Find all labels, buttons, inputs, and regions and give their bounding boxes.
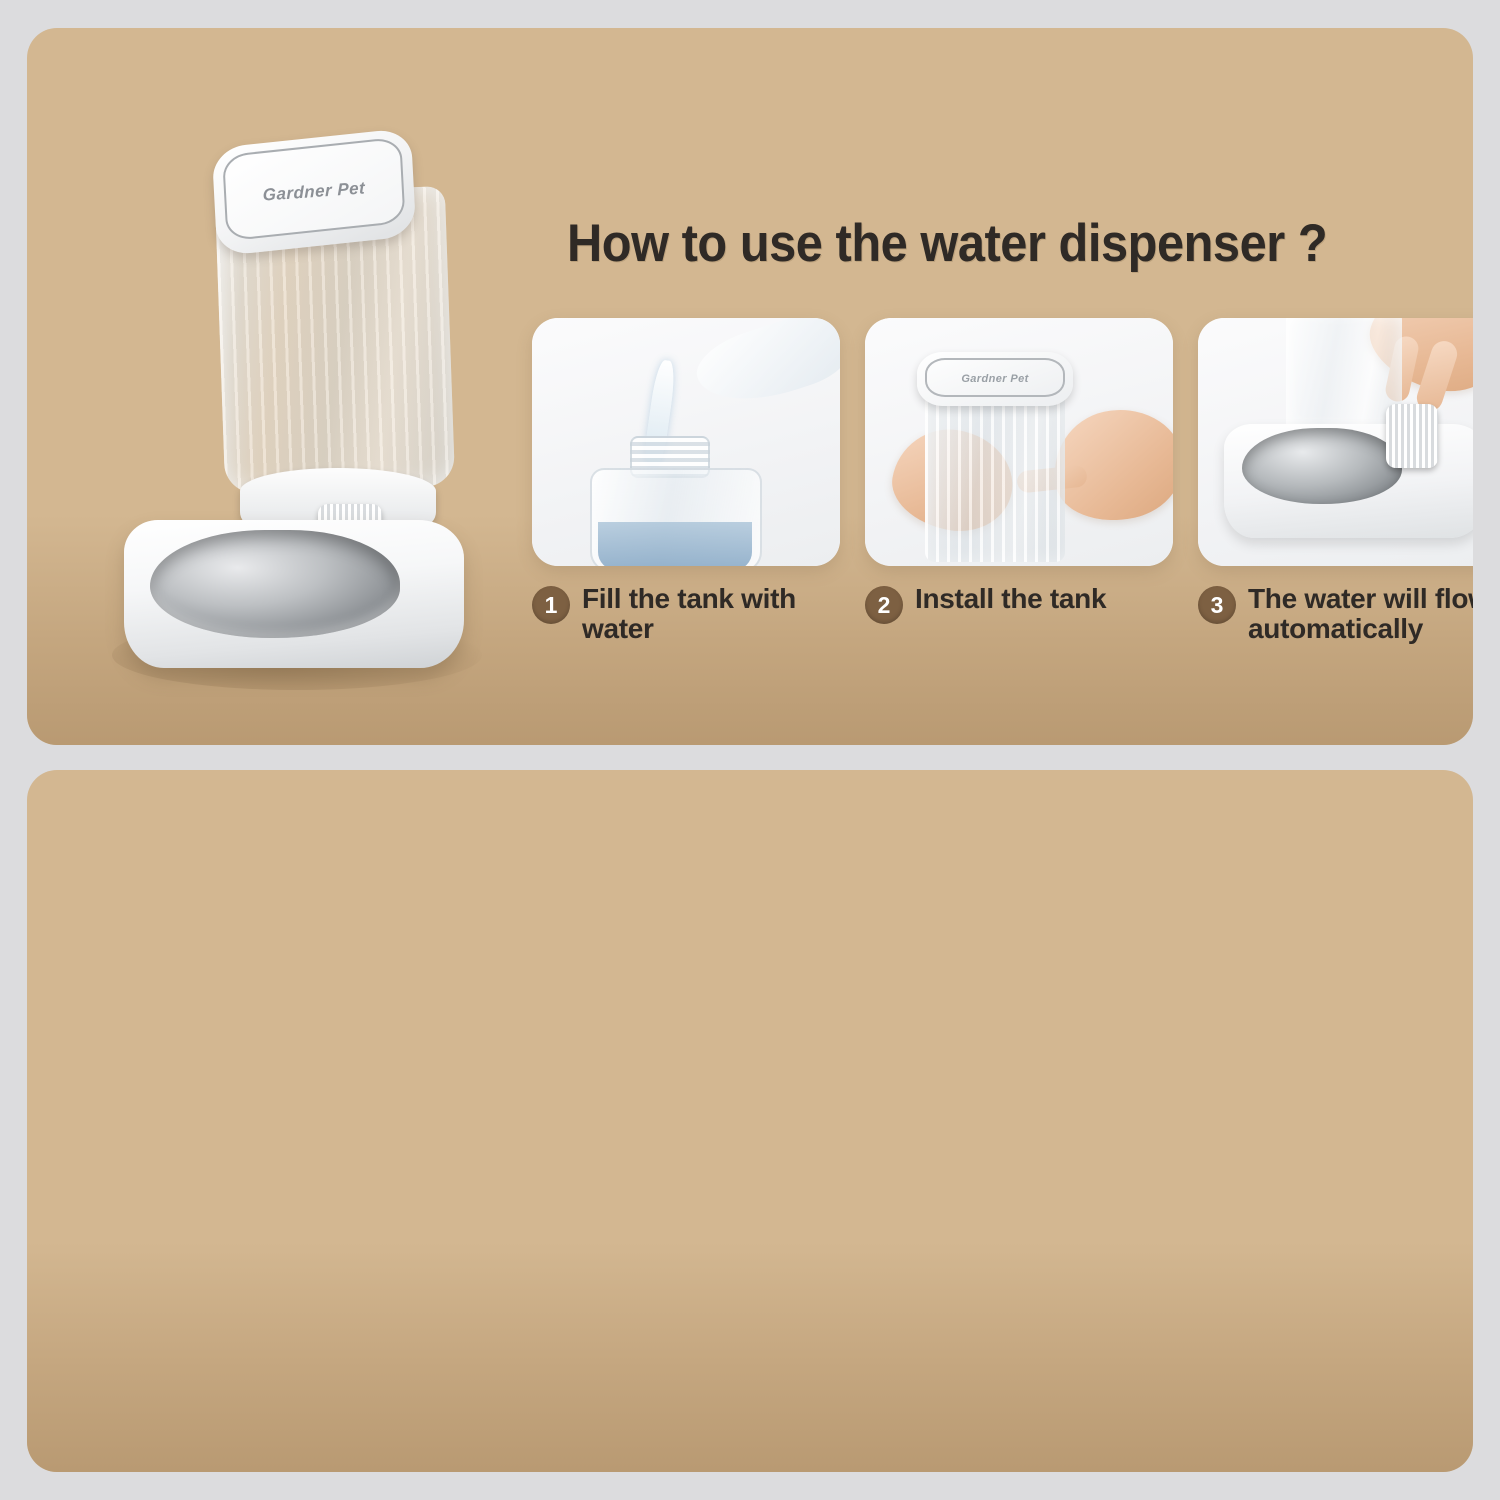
tank-ribs	[925, 386, 1065, 562]
step-thumbnail-install-tank[interactable]: Gardner Pet	[865, 318, 1173, 566]
step-thumbnail-water-flows[interactable]	[1198, 318, 1473, 566]
clear-tank	[925, 386, 1065, 562]
tank-water-level	[598, 522, 752, 566]
panel-floor-shadow	[27, 1242, 1473, 1472]
step-label-row: 2 Install the tank	[865, 584, 1173, 624]
tank-lid: Gardner Pet	[917, 352, 1073, 406]
tank-body	[590, 468, 762, 566]
step-card: 1 Fill the tank with water	[532, 318, 840, 644]
steps-row-water: 1 Fill the tank with water	[532, 318, 1473, 644]
step-label: The water will flow automatically	[1248, 584, 1473, 644]
infographic-stage: Gardner Pet How to use the water dispens…	[0, 0, 1500, 1500]
brand-label: Gardner Pet	[917, 352, 1073, 406]
scene-pour-water	[532, 318, 840, 566]
section-water-dispenser: Gardner Pet How to use the water dispens…	[27, 28, 1473, 745]
step-card: Gardner Pet 2 Install the tank	[865, 318, 1173, 644]
step-thumbnail-fill-tank[interactable]	[532, 318, 840, 566]
step-badge: 3	[1198, 586, 1236, 624]
brand-label: Gardner Pet	[213, 131, 414, 253]
step-label-row: 3 The water will flow automatically	[1198, 584, 1473, 644]
water-valve	[1386, 404, 1438, 468]
step-label-row: 1 Fill the tank with water	[532, 584, 840, 644]
section-food-feeder: Gardner Pet How to use the food feeder ?	[27, 770, 1473, 1472]
scene-water-flows	[1198, 318, 1473, 566]
clear-tank	[1286, 318, 1402, 430]
product-image-water-dispenser: Gardner Pet	[102, 128, 502, 698]
step-label: Install the tank	[915, 584, 1106, 614]
step-badge: 2	[865, 586, 903, 624]
step-badge: 1	[532, 586, 570, 624]
page-title-water: How to use the water dispenser ?	[567, 213, 1327, 274]
tank-lid: Gardner Pet	[212, 128, 417, 257]
scene-install-tank: Gardner Pet	[865, 318, 1173, 566]
step-card: 3 The water will flow automatically	[1198, 318, 1473, 644]
stainless-bowl	[1242, 428, 1402, 504]
step-label: Fill the tank with water	[582, 584, 840, 644]
stainless-bowl	[150, 530, 400, 638]
